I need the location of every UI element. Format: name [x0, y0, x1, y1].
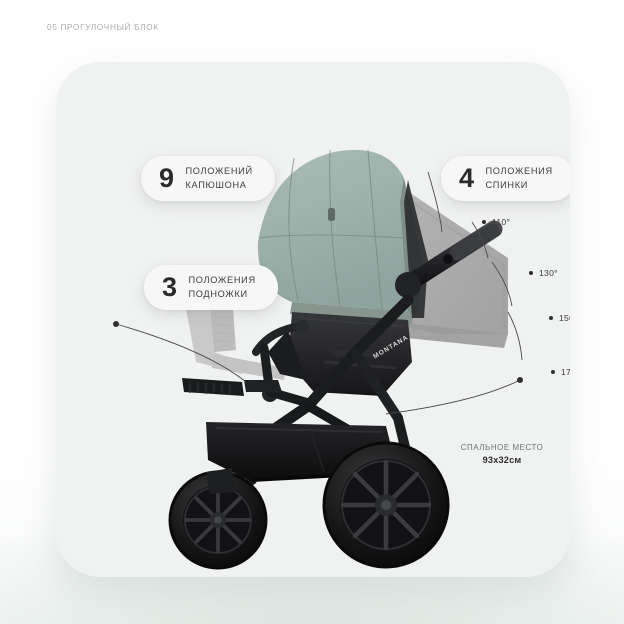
rear-wheel [324, 443, 448, 567]
badge-backrest-positions[interactable]: 4 положения спинки [441, 156, 570, 201]
angle-label-170: 170° [561, 367, 570, 377]
canopy [258, 150, 422, 324]
badge-backrest-label: положения спинки [485, 165, 552, 192]
badge-footrest-line2: подножки [188, 289, 247, 299]
badge-hood-label: положений капюшона [185, 165, 252, 192]
badge-hood-positions[interactable]: 9 положений капюшона [141, 156, 275, 201]
angle-dot-icon [529, 271, 533, 275]
badge-footrest-label: положения подножки [188, 274, 255, 301]
angle-marker-150: 150° [549, 313, 570, 323]
angle-marker-130: 130° [529, 268, 558, 278]
angle-dot-icon [549, 316, 553, 320]
bed-size-value: 93х32см [446, 455, 558, 465]
badge-hood-number: 9 [159, 165, 173, 192]
badge-hood-line2: капюшона [185, 180, 246, 190]
badge-hood-line1: положений [185, 166, 252, 176]
badge-footrest-positions[interactable]: 3 положения подножки [144, 265, 278, 310]
badge-backrest-line2: спинки [485, 180, 528, 190]
angle-label-130: 130° [539, 268, 558, 278]
product-card: 9 положений капюшона 4 положения спинки … [56, 62, 570, 577]
bed-size-note: Спальное место 93х32см [446, 443, 558, 465]
angle-marker-170: 170° [551, 367, 570, 377]
badge-backrest-line1: положения [485, 166, 552, 176]
angle-marker-110: 110° [482, 217, 510, 227]
stroller-illustration [56, 62, 570, 577]
angle-dot-icon [551, 370, 555, 374]
angle-label-110: 110° [492, 217, 510, 227]
page-title: 05 Прогулочный блок [47, 23, 159, 32]
badge-backrest-number: 4 [459, 165, 473, 192]
angle-label-150: 150° [559, 313, 570, 323]
bed-size-title: Спальное место [446, 443, 558, 452]
badge-footrest-number: 3 [162, 274, 176, 301]
angle-dot-icon [482, 220, 486, 224]
badge-footrest-line1: положения [188, 275, 255, 285]
